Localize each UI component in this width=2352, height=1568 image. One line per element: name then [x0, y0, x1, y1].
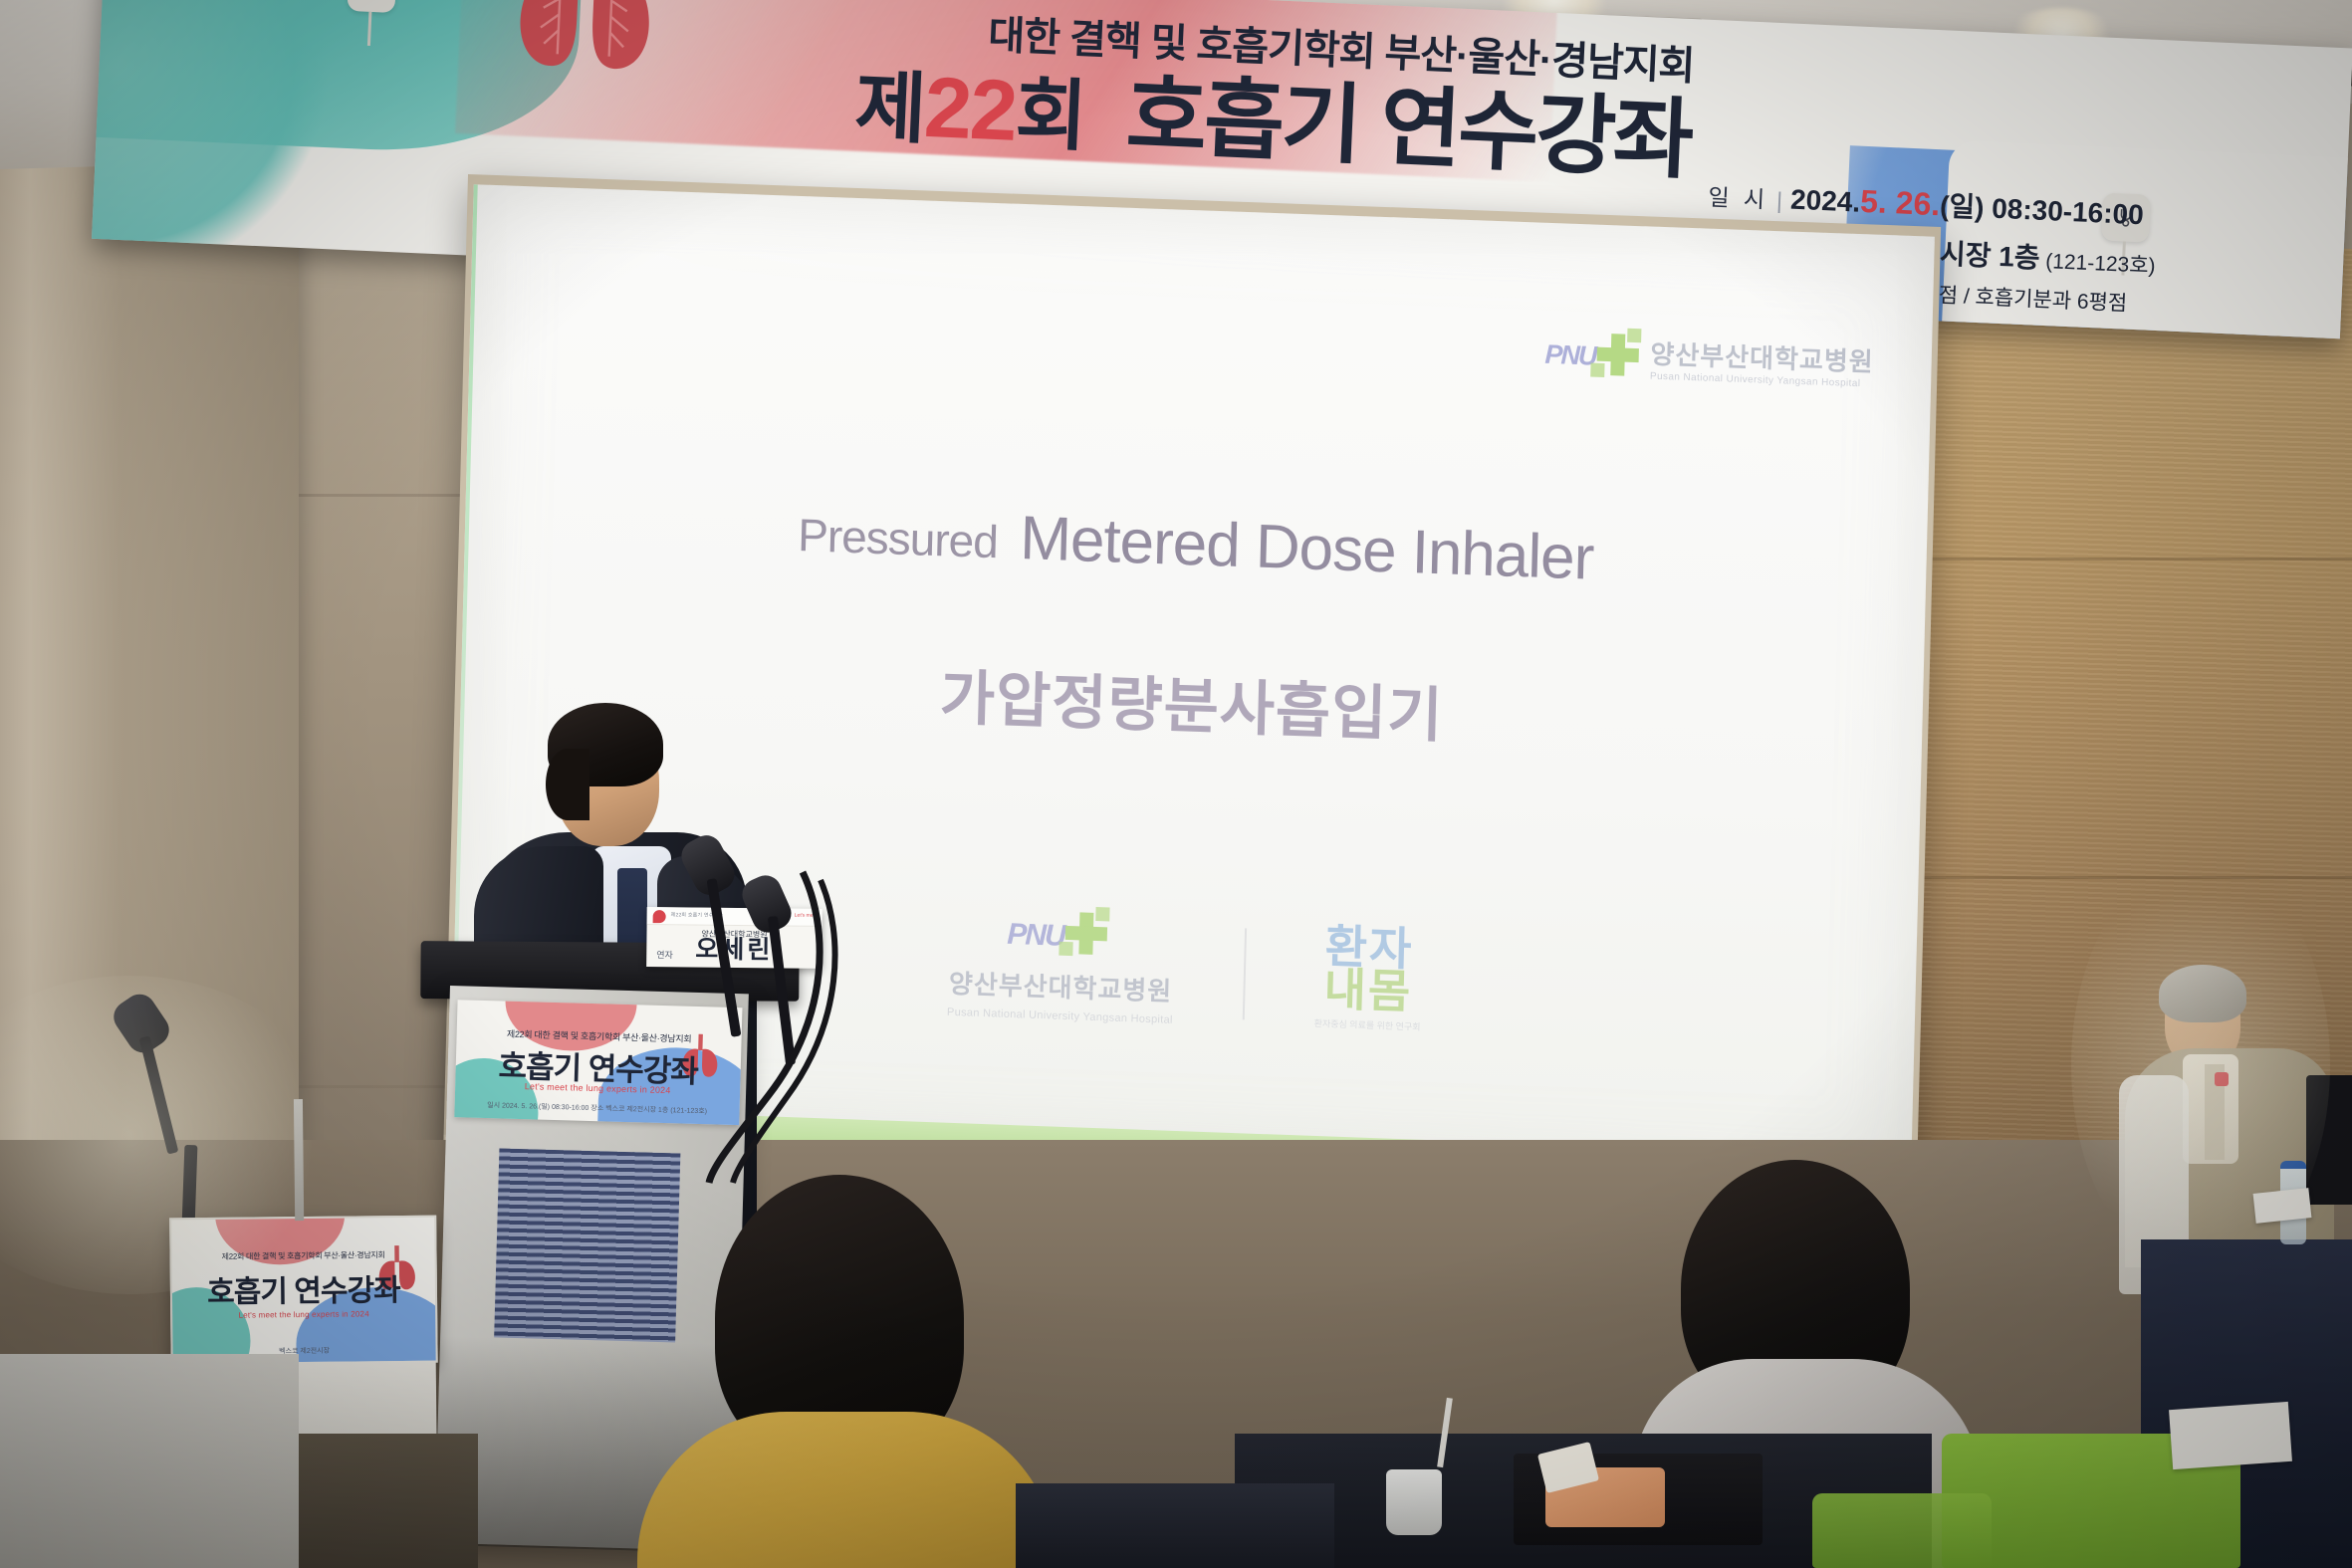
pnu-cross-icon — [1596, 334, 1639, 376]
panelist-lapel-pin — [2215, 1072, 2229, 1086]
scene-photograph: 대한 결핵 및 호흡기학회 부산·울산·경남지회 제22회 호흡기 연수강좌 일… — [0, 0, 2352, 1568]
hwan-text-2: 내몸 — [1323, 963, 1413, 1017]
banner-date-prefix: 2024. — [1789, 184, 1860, 218]
logo-divider — [1243, 928, 1247, 1019]
aboard-sign-panel: 제22회 대한 결핵 및 호흡기학회 부산·울산·경남지회 호흡기 연수강좌 L… — [169, 1216, 438, 1366]
banner-edition-suffix: 회 — [1014, 70, 1087, 160]
banner-date-suffix: (일) 08:30-16:00 — [1939, 190, 2144, 230]
left-foreground-stand — [0, 1354, 299, 1568]
pnu-letters: PNU — [1544, 339, 1596, 372]
pnu-letters: PNU — [1007, 918, 1064, 954]
slide-title: Pressured Metered Dose Inhaler — [464, 483, 1927, 605]
hwanja-naemom-logo: 환자 내몸 환자중심 의료를 위한 연구회 — [1314, 924, 1423, 1031]
papers-on-table — [2253, 1188, 2312, 1224]
drink-cup — [1386, 1469, 1442, 1535]
inhaler-icon — [359, 0, 384, 1]
slide-header-logo: PNU 양산부산대학교병원 Pusan National University … — [1544, 331, 1874, 390]
chair-green-mid — [1812, 1493, 1992, 1568]
hwan-line-2: 내몸 — [1323, 968, 1413, 1014]
banner-venue-room: (121-123호) — [2039, 250, 2156, 278]
banner-info-label-date: 일 시 — [1708, 184, 1769, 213]
banner-edition-prefix: 제 — [853, 63, 927, 153]
hwan-caption: 환자중심 의료를 위한 연구회 — [1314, 1019, 1421, 1031]
left-foreground-shadow — [299, 1434, 478, 1568]
pnu-cross-icon — [1064, 912, 1107, 955]
audience-table-left — [1016, 1483, 1334, 1568]
slide-title-big: Metered Dose Inhaler — [1019, 504, 1594, 593]
speaker-hair-side — [546, 749, 589, 820]
microphone-cables — [617, 866, 876, 1185]
banner-teal-circle — [92, 0, 352, 258]
banner-edition-number: 22 — [922, 60, 1018, 159]
audience-top-yellow — [637, 1412, 1056, 1568]
slide-title-small: Pressured — [798, 509, 999, 567]
pnu-logo-icon: PNU — [1544, 332, 1637, 380]
aboard-pole — [294, 1099, 304, 1221]
papers-foreground — [2169, 1402, 2292, 1469]
aboard-title: 호흡기 연수강좌 — [172, 1265, 435, 1312]
microphone-boom — [139, 1035, 179, 1154]
pnu-logo-icon: PNU — [1007, 910, 1117, 964]
panelist-hair — [2159, 965, 2246, 1022]
footer-hospital-kr: 양산부산대학교병원 — [949, 964, 1173, 1008]
laptop-right — [2306, 1075, 2352, 1205]
slide-footer-pnu-logo: PNU 양산부산대학교병원 Pusan National University … — [947, 908, 1175, 1026]
footer-hospital-en: Pusan National University Yangsan Hospit… — [947, 1007, 1173, 1026]
audience-front-yellow — [637, 1175, 1065, 1568]
banner-date-accent: 5. 26. — [1859, 183, 1941, 223]
